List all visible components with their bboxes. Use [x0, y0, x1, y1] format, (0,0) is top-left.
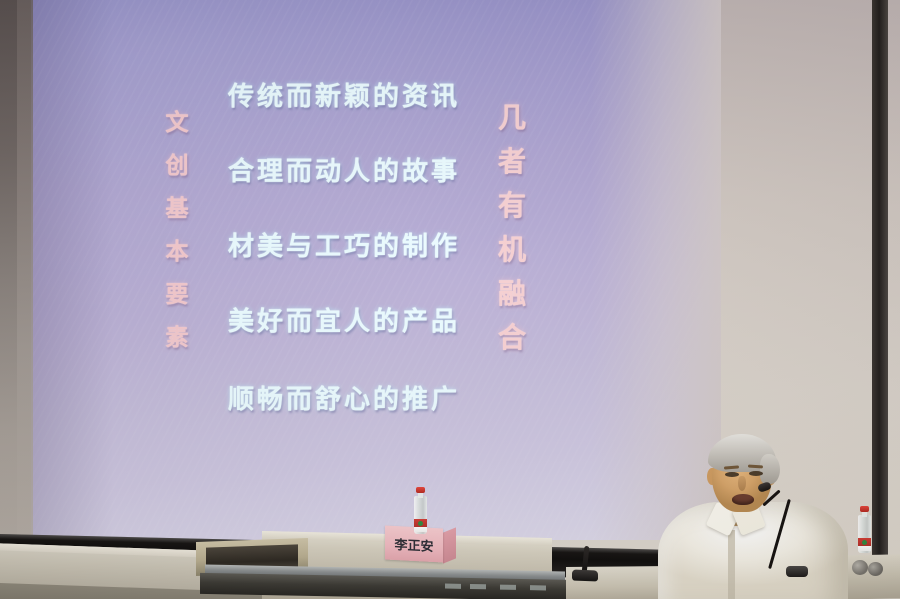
slide-line: 顺畅而舒心的推广 — [228, 387, 460, 413]
slide-line: 传统而新颖的资讯 — [228, 84, 460, 110]
slide-line: 美好而宜人的产品 — [228, 309, 460, 335]
right-column-char: 者 — [491, 148, 533, 192]
presenter — [650, 430, 860, 599]
left-column-char: 素 — [160, 327, 194, 370]
rail-indicator — [500, 585, 516, 590]
microphone-head — [868, 562, 883, 576]
bottle-label-logo — [418, 521, 423, 526]
right-column-char: 几 — [491, 104, 533, 148]
rail-indicator — [530, 585, 546, 590]
left-column-char: 要 — [160, 284, 194, 327]
left-column-char: 创 — [160, 155, 194, 198]
right-column-char: 融 — [491, 280, 533, 324]
rail-indicator — [445, 584, 461, 589]
bottle-cap — [416, 487, 425, 493]
wall-left-strip-inner — [17, 0, 33, 540]
bottle-cap — [860, 506, 869, 512]
shirt-placket — [728, 530, 735, 599]
slide-left-column: 文 创 基 本 要 素 — [160, 112, 194, 370]
microphone-head — [852, 560, 868, 575]
right-column-char: 机 — [491, 236, 533, 280]
right-column-char: 有 — [491, 192, 533, 236]
projection-screen: 文 创 基 本 要 素 传统而新颖的资讯 合理而动人的故事 材美与工巧的制作 美… — [31, 0, 721, 540]
slide-line: 合理而动人的故事 — [228, 159, 460, 185]
bottle-label-logo — [862, 540, 867, 545]
wall-dark-column — [872, 0, 888, 560]
slide-line: 材美与工巧的制作 — [228, 234, 460, 260]
microphone-base — [786, 566, 808, 577]
nameplate-text: 李正安 — [394, 533, 433, 554]
left-column-char: 本 — [160, 241, 194, 284]
slide-right-column: 几 者 有 机 融 合 — [491, 104, 533, 368]
right-column-char: 合 — [491, 324, 533, 368]
microphone-base — [572, 570, 598, 582]
presenter-mouth — [732, 494, 754, 505]
presenter-nose — [738, 476, 746, 491]
lecture-photo: 文 创 基 本 要 素 传统而新颖的资讯 合理而动人的故事 材美与工巧的制作 美… — [0, 0, 900, 599]
rail-indicator — [470, 584, 486, 589]
presenter-hair-side — [760, 454, 780, 484]
presenter-eye-right — [749, 471, 763, 476]
left-column-char: 基 — [160, 198, 194, 241]
left-column-char: 文 — [160, 112, 194, 155]
nameplate-fold — [443, 527, 456, 563]
presenter-eye-left — [725, 472, 739, 477]
